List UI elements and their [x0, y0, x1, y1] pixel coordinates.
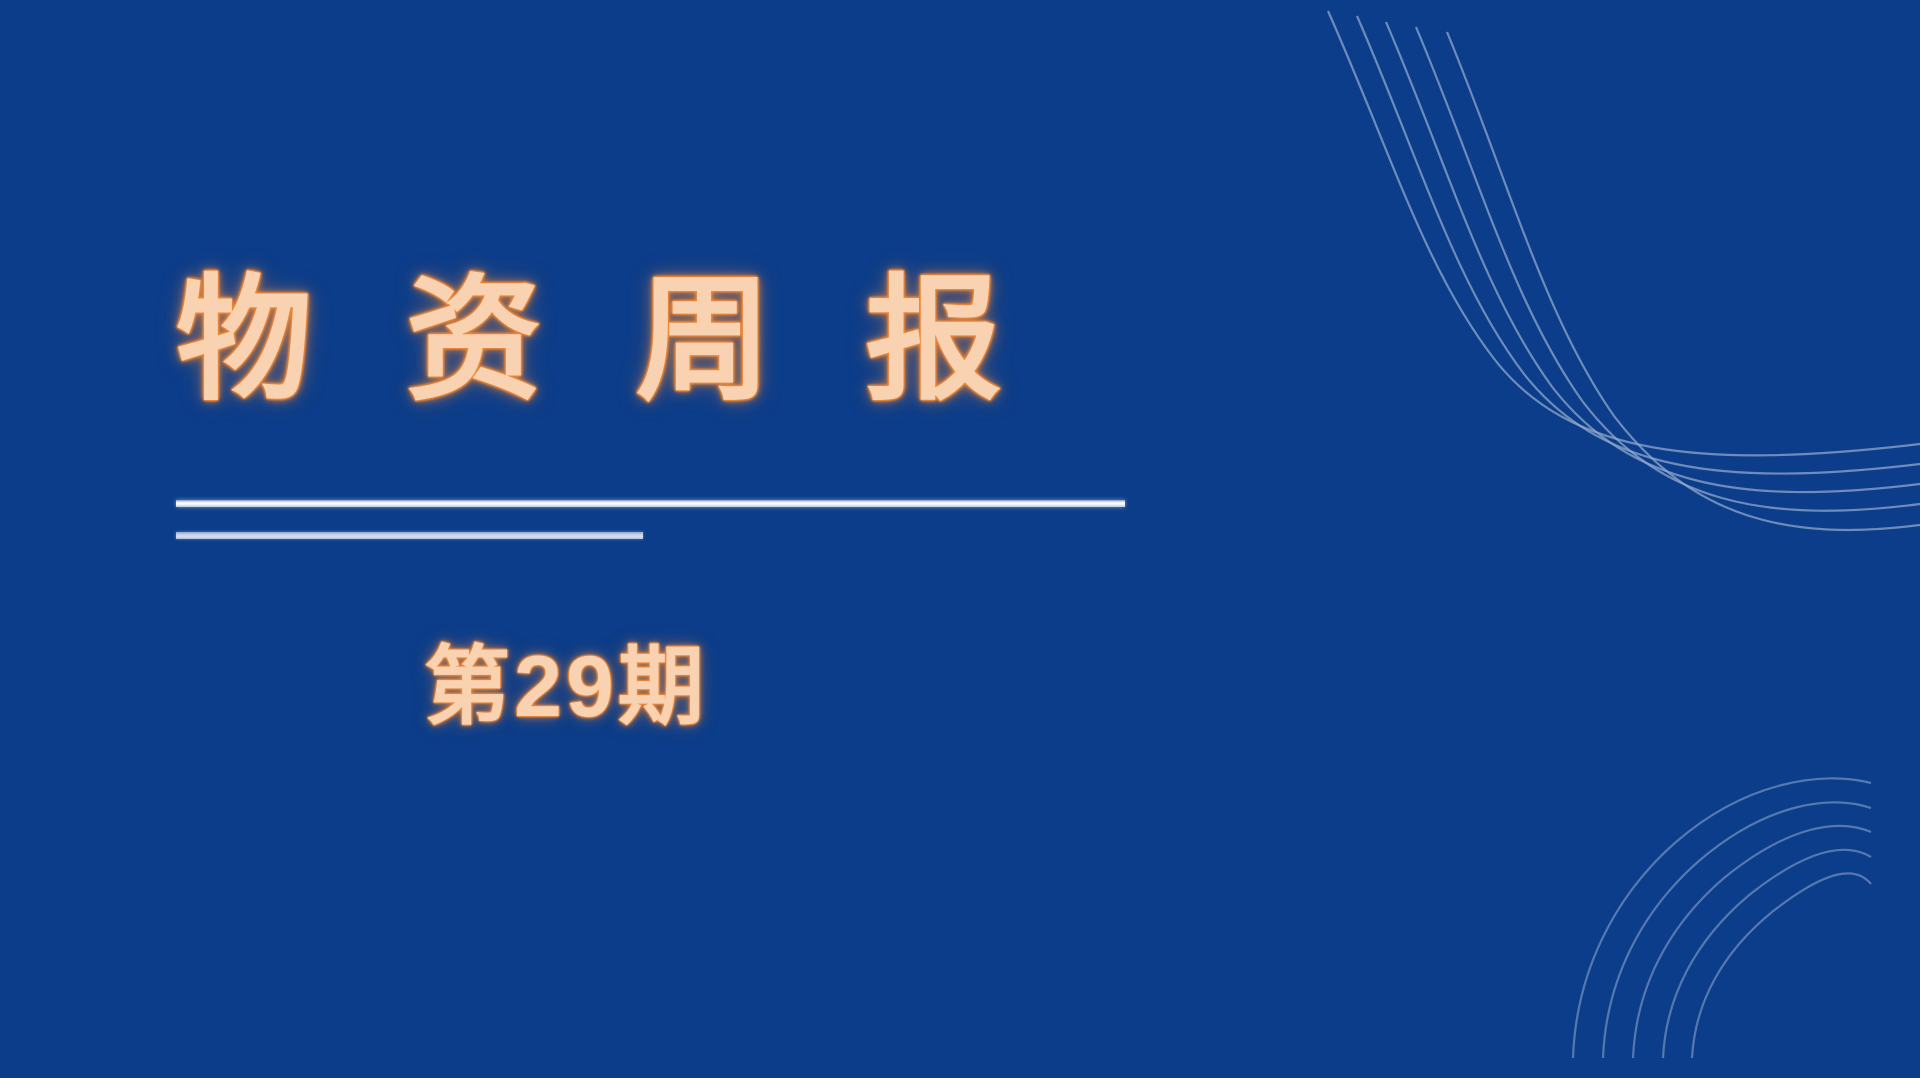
title-underline-group	[176, 500, 1136, 539]
issue-number-label: 第29期	[424, 640, 708, 735]
top-right-curves	[1328, 11, 1920, 530]
title-underline-short	[176, 532, 643, 539]
decorative-curves	[0, 0, 1920, 1078]
page-title: 物 资 周 报	[176, 268, 1176, 412]
title-block: 物 资 周 报	[176, 268, 1176, 412]
issue-block: 第29期	[176, 640, 956, 735]
title-underline-long	[176, 500, 1125, 507]
bottom-right-curves	[1573, 778, 1871, 1058]
title-slide: 物 资 周 报 第29期	[0, 0, 1920, 1078]
